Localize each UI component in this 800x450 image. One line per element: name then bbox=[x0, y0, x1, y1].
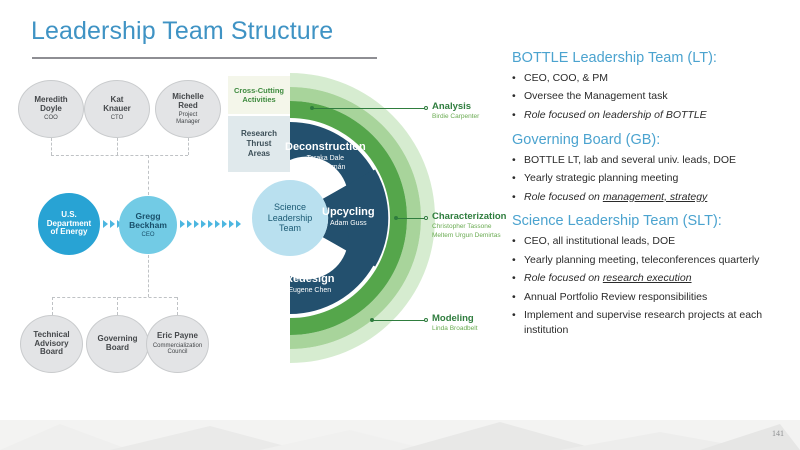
list-item: • Role focused on management, strategy bbox=[512, 190, 792, 205]
callout-modeling: Modeling Linda Broadbelt bbox=[432, 313, 478, 334]
list-item-text: Implement and supervise research project… bbox=[524, 308, 792, 338]
callout-analysis: Analysis Birdie Carpenter bbox=[432, 101, 479, 122]
bullet-glyph: • bbox=[512, 253, 524, 268]
wedge-title: Redesign bbox=[285, 273, 335, 285]
footer-polygons bbox=[0, 420, 800, 450]
bullet-glyph: • bbox=[512, 308, 524, 338]
leader-dot-modeling-end bbox=[424, 318, 428, 322]
list-item-text: Yearly planning meeting, teleconferences… bbox=[524, 253, 792, 268]
list-item: • Yearly strategic planning meeting bbox=[512, 171, 792, 186]
section-heading: Governing Board (GB): bbox=[512, 132, 792, 148]
node-science-leadership-team-hub[interactable]: Science Leadership Team bbox=[252, 180, 328, 256]
list-item-text: BOTTLE LT, lab and several univ. leads, … bbox=[524, 153, 792, 168]
bullet-glyph: • bbox=[512, 290, 524, 305]
page-number: 141 bbox=[772, 429, 784, 438]
leader-dot-characterization-end bbox=[424, 216, 428, 220]
wedge-person: Eugene Chen bbox=[288, 287, 331, 294]
section-heading: Science Leadership Team (SLT): bbox=[512, 213, 792, 229]
page-title: Leadership Team Structure bbox=[31, 17, 333, 46]
list-item-emphasis: research execution bbox=[603, 272, 692, 284]
hub-line: Team bbox=[279, 223, 301, 233]
callout-characterization: Characterization Christopher Tassone Mel… bbox=[432, 211, 506, 241]
wedge-label-upcycling: Upcycling Adam Guss bbox=[322, 206, 375, 228]
list-item-text: Role focused on bbox=[524, 272, 603, 284]
list-item: • Yearly planning meeting, teleconferenc… bbox=[512, 253, 792, 268]
section-science-leadership-team: Science Leadership Team (SLT): • CEO, al… bbox=[512, 213, 792, 337]
bullet-glyph: • bbox=[512, 171, 524, 186]
callout-person: Christopher Tassone bbox=[432, 223, 492, 230]
section-governing-board: Governing Board (GB): • BOTTLE LT, lab a… bbox=[512, 132, 792, 205]
list-item-text: CEO, all institutional leads, DOE bbox=[524, 234, 792, 249]
list-item: • CEO, all institutional leads, DOE bbox=[512, 234, 792, 249]
list-item-text: Oversee the Management task bbox=[524, 89, 792, 104]
bullet-glyph: • bbox=[512, 71, 524, 86]
footer-decorative-band bbox=[0, 420, 800, 450]
list-item-text: Annual Portfolio Review responsibilities bbox=[524, 290, 792, 305]
wedge-title: Deconstruction bbox=[285, 141, 366, 153]
section-heading: BOTTLE Leadership Team (LT): bbox=[512, 50, 792, 66]
wedge-label-deconstruction: Deconstruction Taraka Dale Yuriy Román bbox=[285, 141, 366, 173]
list-item: • Annual Portfolio Review responsibiliti… bbox=[512, 290, 792, 305]
callout-title: Characterization bbox=[432, 211, 506, 222]
title-divider bbox=[32, 57, 377, 59]
list-item-text: Role focused on bbox=[524, 191, 603, 203]
list-item: • Oversee the Management task bbox=[512, 89, 792, 104]
hub-line: Leadership bbox=[268, 213, 313, 223]
wedge-person: Taraka Dale bbox=[307, 155, 344, 162]
callout-person: Linda Broadbelt bbox=[432, 325, 478, 334]
bullet-glyph: • bbox=[512, 271, 524, 286]
bullet-glyph: • bbox=[512, 234, 524, 249]
wedge-title: Upcycling bbox=[322, 206, 375, 218]
wedge-person: Adam Guss bbox=[330, 220, 367, 227]
callout-person: Meltem Urgun Demirtas bbox=[432, 232, 501, 239]
hub-line: Science bbox=[274, 202, 306, 212]
list-item-text: Yearly strategic planning meeting bbox=[524, 171, 792, 186]
wedge-label-redesign: Redesign Eugene Chen bbox=[285, 273, 335, 295]
list-item: • Role focused on leadership of BOTTLE bbox=[512, 108, 792, 123]
wedge-person: Yuriy Román bbox=[305, 164, 345, 171]
text-column: BOTTLE Leadership Team (LT): • CEO, COO,… bbox=[512, 50, 792, 347]
bullet-glyph: • bbox=[512, 190, 524, 205]
list-item-emphasis: management, strategy bbox=[603, 191, 707, 203]
list-item: • Role focused on research execution bbox=[512, 271, 792, 286]
list-item: • CEO, COO, & PM bbox=[512, 71, 792, 86]
section-bottle-leadership-team: BOTTLE Leadership Team (LT): • CEO, COO,… bbox=[512, 50, 792, 123]
list-item: • Implement and supervise research proje… bbox=[512, 308, 792, 338]
bullet-glyph: • bbox=[512, 89, 524, 104]
callout-person: Birdie Carpenter bbox=[432, 113, 479, 122]
callout-title: Analysis bbox=[432, 101, 479, 112]
leader-line-modeling bbox=[373, 320, 425, 321]
leader-line-analysis bbox=[313, 108, 425, 109]
callout-title: Modeling bbox=[432, 313, 478, 324]
list-item-text: CEO, COO, & PM bbox=[524, 71, 792, 86]
leader-dot-analysis-end bbox=[424, 106, 428, 110]
list-item-text: Role focused on leadership of BOTTLE bbox=[524, 108, 792, 123]
bullet-glyph: • bbox=[512, 108, 524, 123]
list-item: • BOTTLE LT, lab and several univ. leads… bbox=[512, 153, 792, 168]
leader-line-characterization bbox=[397, 218, 425, 219]
leadership-diagram: Meredith Doyle COO Kat Knauer CTO Michel… bbox=[0, 60, 505, 380]
bullet-glyph: • bbox=[512, 153, 524, 168]
